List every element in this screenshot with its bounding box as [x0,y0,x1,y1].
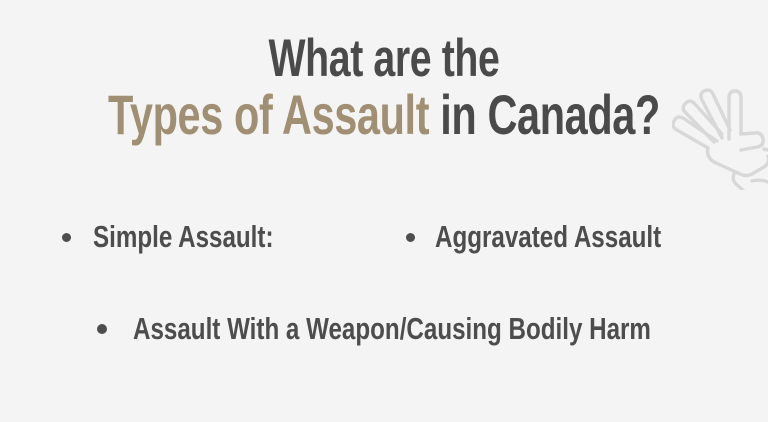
list-item: Simple Assault: [62,220,324,254]
slide-canvas: What are the Types of Assault in Canada?… [0,0,768,422]
bullet-dot-icon [62,233,71,242]
list-item: Aggravated Assault [406,220,725,254]
bullet-dot-icon [97,324,107,334]
title-accent-text: Types of Assault [108,83,429,146]
list-item-label: Simple Assault: [93,220,274,254]
bullet-dot-icon [406,233,415,242]
title-line-1: What are the [100,32,668,86]
list-item: Assault With a Weapon/Causing Bodily Har… [97,312,768,346]
title-line-2-suffix: in Canada? [429,83,660,146]
title-line-2: Types of Assault in Canada? [100,86,668,143]
list-item-label: Assault With a Weapon/Causing Bodily Har… [133,312,651,346]
list-item-label: Aggravated Assault [435,220,661,254]
page-title: What are the Types of Assault in Canada? [0,32,768,143]
